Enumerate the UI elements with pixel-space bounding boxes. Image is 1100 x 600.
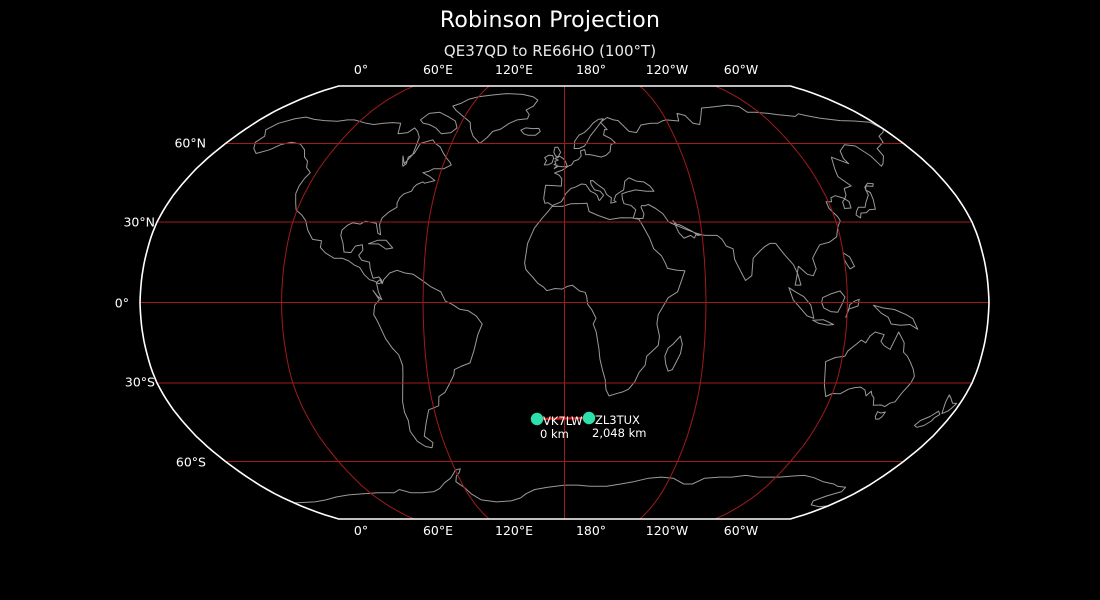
lon-tick-top-0: 0° [354, 62, 368, 77]
longitude-axis-top: 0°60°E120°E180°120°W60°W [0, 62, 1100, 78]
lon-tick-bottom-4: 120°W [646, 523, 688, 538]
lon-tick-bottom-1: 60°E [423, 523, 453, 538]
world-map [0, 0, 1100, 600]
station-distance-vk7lw: 0 km [540, 428, 569, 441]
lon-tick-bottom-3: 180° [576, 523, 606, 538]
lon-tick-top-5: 60°W [724, 62, 759, 77]
lon-tick-bottom-0: 0° [354, 523, 368, 538]
lon-tick-top-3: 180° [576, 62, 606, 77]
lon-tick-top-1: 60°E [423, 62, 453, 77]
lon-tick-bottom-2: 120°E [495, 523, 533, 538]
lon-tick-bottom-5: 60°W [724, 523, 759, 538]
lat-tick-4: 60°S [136, 455, 206, 470]
robinson-projection-figure: Robinson Projection QE37QD to RE66HO (10… [0, 0, 1100, 600]
station-marker-vk7lw[interactable] [531, 413, 543, 425]
graticule-lines [140, 86, 989, 519]
coastlines [254, 94, 957, 507]
lon-tick-top-4: 120°W [646, 62, 688, 77]
station-distance-zl3tux: 2,048 km [592, 427, 646, 440]
lat-tick-0: 60°N [136, 136, 206, 151]
lat-tick-2: 0° [59, 296, 129, 311]
longitude-axis-bottom: 0°60°E120°E180°120°W60°W [0, 523, 1100, 539]
map-body [140, 86, 989, 519]
station-marker-zl3tux[interactable] [583, 412, 595, 424]
lat-tick-1: 30°N [85, 215, 155, 230]
lon-tick-top-2: 120°E [495, 62, 533, 77]
lat-tick-3: 30°S [85, 375, 155, 390]
